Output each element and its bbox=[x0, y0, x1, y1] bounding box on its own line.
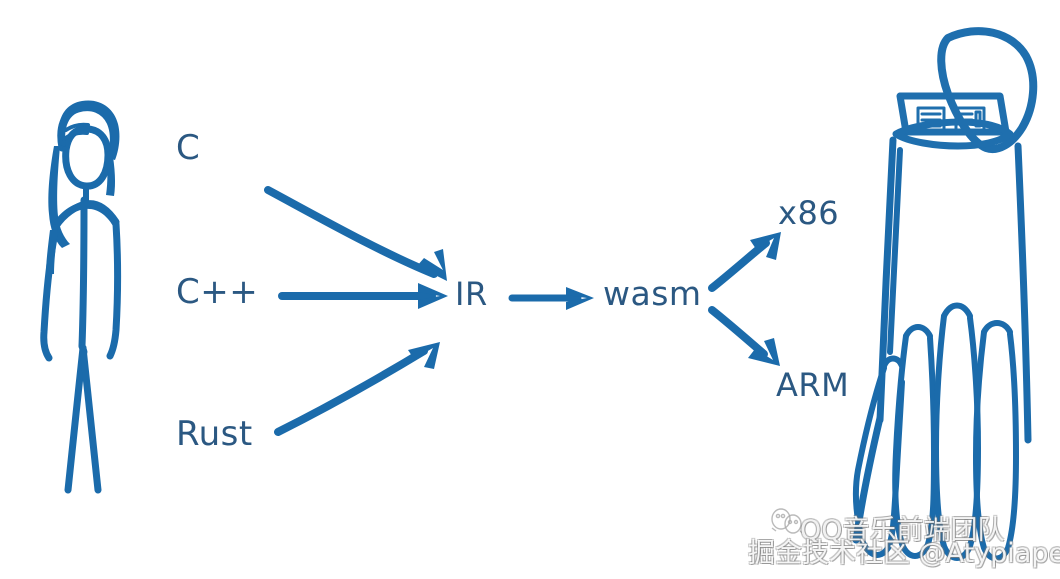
node-label-arm: ARM bbox=[776, 366, 849, 404]
arrow-ir-to-wasm bbox=[512, 287, 594, 310]
node-label-rust: Rust bbox=[176, 414, 253, 454]
arrow-rust-to-ir bbox=[278, 342, 440, 432]
arrow-c-to-ir bbox=[268, 190, 447, 281]
stick-figure-person bbox=[44, 100, 120, 490]
arrow-wasm-to-x86 bbox=[712, 232, 781, 288]
arrow-cpp-to-ir bbox=[282, 283, 448, 309]
watermark-juejin-author: 掘金技术社区 @Atypiape bbox=[748, 531, 1060, 570]
node-label-wasm: wasm bbox=[603, 274, 702, 313]
sketch-artwork: .ink { stroke:#1b6bab; fill:none; stroke… bbox=[0, 0, 1060, 579]
node-label-cpp: C++ bbox=[176, 272, 258, 312]
node-label-c: C bbox=[176, 128, 200, 168]
arrow-wasm-to-arm bbox=[712, 310, 780, 366]
hand-holding-laptop bbox=[856, 31, 1033, 558]
diagram-canvas: .ink { stroke:#1b6bab; fill:none; stroke… bbox=[0, 0, 1060, 579]
node-label-x86: x86 bbox=[778, 194, 839, 232]
node-label-ir: IR bbox=[455, 275, 488, 313]
